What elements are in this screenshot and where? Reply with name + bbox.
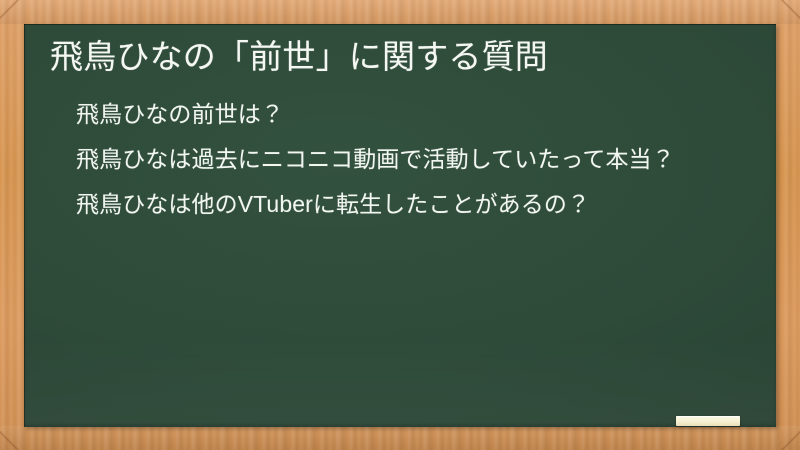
frame-miter-bottom-left <box>0 425 27 450</box>
board-title: 飛鳥ひなの「前世」に関する質問 <box>50 38 750 77</box>
question-list: 飛鳥ひなの前世は？ 飛鳥ひなは過去にニコニコ動画で活動していたって本当？ 飛鳥ひ… <box>50 99 750 221</box>
frame-miter-top-right <box>773 0 800 25</box>
frame-miter-top-left <box>0 0 27 25</box>
wood-frame-top-rail <box>0 0 800 24</box>
blackboard-graphic: 飛鳥ひなの「前世」に関する質問 飛鳥ひなの前世は？ 飛鳥ひなは過去にニコニコ動画… <box>0 0 800 450</box>
frame-miter-bottom-right <box>773 425 800 450</box>
wood-frame-bottom-rail <box>0 426 800 450</box>
question-item-1: 飛鳥ひなの前世は？ <box>50 99 750 130</box>
chalkboard-surface: 飛鳥ひなの「前世」に関する質問 飛鳥ひなの前世は？ 飛鳥ひなは過去にニコニコ動画… <box>24 24 776 427</box>
question-item-3: 飛鳥ひなは他のVTuberに転生したことがあるの？ <box>50 189 750 220</box>
chalk-stick-icon <box>676 416 740 426</box>
question-item-2: 飛鳥ひなは過去にニコニコ動画で活動していたって本当？ <box>50 144 750 175</box>
